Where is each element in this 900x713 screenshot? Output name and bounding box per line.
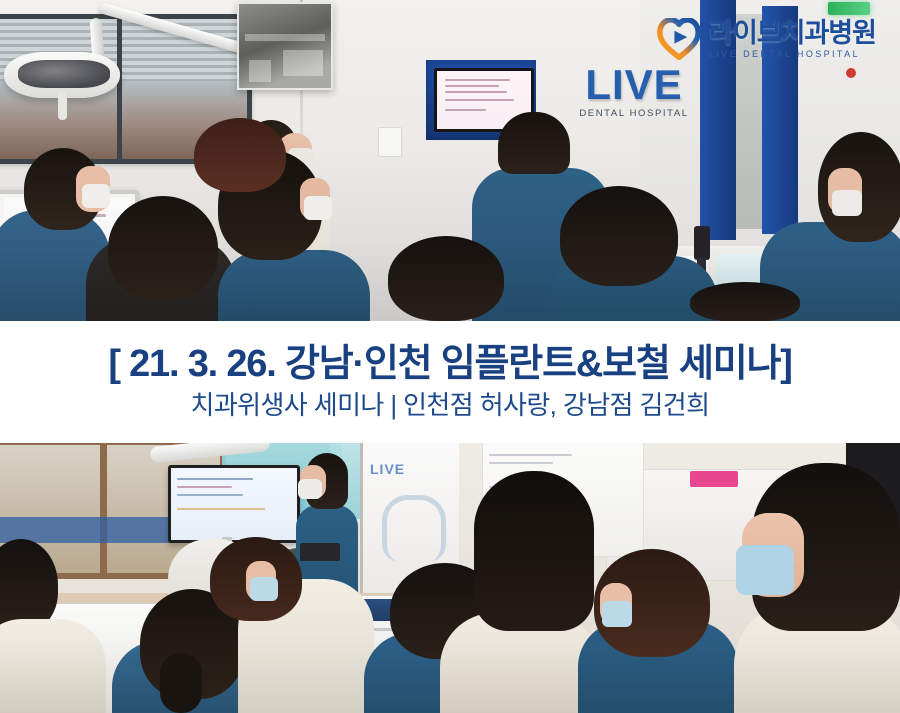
window-mullion	[117, 19, 122, 159]
hospital-logo: 라이브치과병원 LIVE DENTAL HOSPITAL	[657, 18, 876, 60]
fire-alarm-icon	[846, 68, 856, 78]
chairside-monitor	[168, 465, 300, 543]
attendee-mask	[82, 184, 110, 208]
title-band: [ 21. 3. 26. 강남·인천 임플란트&보철 세미나] 치과위생사 세미…	[0, 321, 900, 443]
attendee-head	[474, 471, 594, 631]
dental-light-handle	[58, 92, 67, 120]
tooth-graphic-icon	[382, 495, 446, 562]
attendee-mask	[250, 577, 278, 601]
exit-sign	[828, 2, 870, 15]
photo-top: LIVE DENTAL HOSPITAL	[0, 0, 900, 321]
partition-live-label: LIVE	[370, 461, 405, 477]
wall-signage: LIVE DENTAL HOSPITAL	[578, 66, 690, 119]
attendee-mask	[602, 601, 632, 627]
attendee-head	[194, 118, 286, 192]
logo-english-text: LIVE DENTAL HOSPITAL	[709, 50, 876, 59]
attendee-hair-center	[498, 112, 570, 174]
seminar-subtitle: 치과위생사 세미나 | 인천점 허사랑, 강남점 김건희	[191, 392, 710, 419]
dental-light-lens	[18, 60, 110, 88]
wall-switch-panel	[378, 127, 402, 157]
logo-korean-text: 라이브치과병원	[709, 20, 876, 47]
photo-bottom: LIVE	[0, 443, 900, 713]
pink-storage-box	[690, 471, 738, 487]
chairside-slide	[171, 468, 297, 540]
wall-signage-live: LIVE	[578, 66, 690, 105]
seminar-poster: LIVE DENTAL HOSPITAL	[0, 0, 900, 713]
window-mullion	[100, 445, 107, 573]
photo-top-vignette	[0, 241, 900, 321]
seminar-title: [ 21. 3. 26. 강남·인천 임플란트&보철 세미나]	[108, 345, 791, 385]
tooth-play-icon	[657, 18, 701, 60]
attendee-mask	[304, 196, 332, 220]
attendee-mask	[736, 545, 794, 595]
framed-wall-photo	[237, 2, 333, 90]
presenter-mask	[298, 479, 322, 499]
presenter-tablet	[300, 543, 340, 561]
wall-signage-dental-hospital: DENTAL HOSPITAL	[578, 108, 690, 119]
attendee-mask	[832, 190, 862, 216]
photo-bottom-vignette	[0, 643, 900, 713]
